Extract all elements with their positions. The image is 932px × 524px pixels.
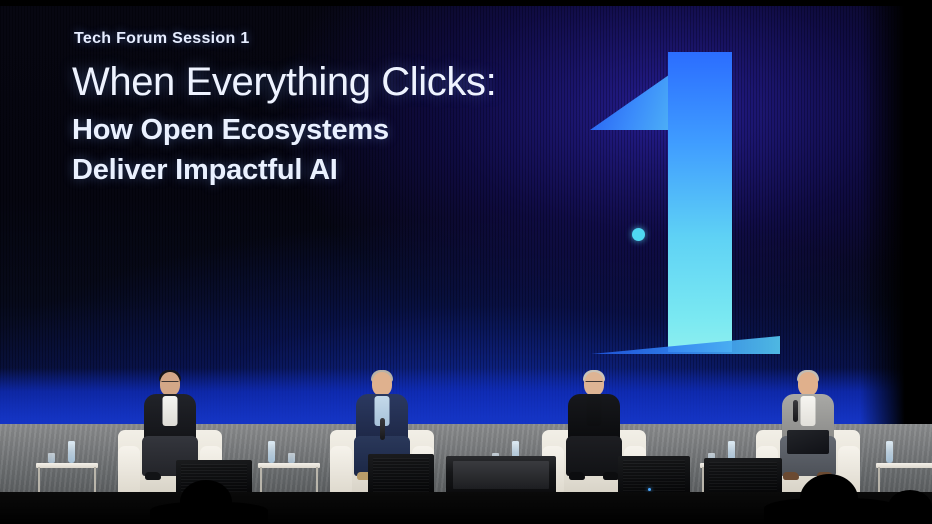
water-bottle-cap <box>512 441 519 444</box>
panelist-shoe <box>603 472 619 480</box>
equipment-rack-face <box>453 461 549 489</box>
water-bottle-cap <box>268 441 275 444</box>
slide-text-block: Tech Forum Session 1 When Everything Cli… <box>72 30 572 194</box>
slide-subline-2: Deliver Impactful AI <box>72 153 572 188</box>
session-numeral-one-graphic <box>590 52 770 352</box>
panelist-legs <box>566 436 622 476</box>
side-table-leg <box>38 467 40 492</box>
water-bottle-cap <box>886 441 893 444</box>
panelist-shoe <box>145 472 161 480</box>
conference-stage-photo: Tech Forum Session 1 When Everything Cli… <box>0 0 932 524</box>
panelist-head <box>798 372 818 396</box>
audience-silhouette <box>764 498 900 524</box>
equipment-rack <box>446 456 556 496</box>
side-table-leg <box>316 467 318 492</box>
water-bottle <box>68 442 75 463</box>
laptop-icon <box>787 430 829 454</box>
slide-eyebrow: Tech Forum Session 1 <box>74 30 572 48</box>
side-table-top <box>258 463 320 468</box>
monitor-grille <box>373 458 429 493</box>
water-bottle <box>268 442 275 463</box>
audience-silhouette <box>150 502 268 524</box>
side-table-top <box>876 463 932 468</box>
panelist-shoe <box>783 472 799 480</box>
panelist-shirt <box>801 396 816 426</box>
side-table-leg <box>878 467 880 492</box>
water-bottle <box>886 442 893 463</box>
letterbox-bar <box>0 0 932 6</box>
microphone-icon <box>793 400 798 422</box>
wall-right-falloff <box>860 0 932 430</box>
microphone-icon <box>380 418 385 440</box>
side-table-leg <box>94 467 96 492</box>
slide-subline-1: How Open Ecosystems <box>72 113 572 148</box>
panelist-shirt <box>587 396 602 426</box>
monitor-led-indicator <box>648 488 651 491</box>
water-bottle-cap <box>728 441 735 444</box>
audience-silhouette <box>888 490 932 524</box>
panelist-head <box>372 372 392 396</box>
glasses-icon <box>162 381 179 386</box>
drinking-glass <box>48 453 55 463</box>
numeral-one-stem <box>668 52 732 352</box>
panelist-shoe <box>569 472 585 480</box>
slide-headline: When Everything Clicks: <box>72 62 572 104</box>
panelist-shirt <box>163 396 178 426</box>
side-table-leg <box>260 467 262 492</box>
side-table-top <box>36 463 98 468</box>
monitor-grille <box>623 460 685 493</box>
accent-dot-icon <box>632 228 645 241</box>
water-bottle-cap <box>68 441 75 444</box>
numeral-one-flag <box>590 70 676 130</box>
glasses-icon <box>586 381 603 386</box>
drinking-glass <box>288 453 295 463</box>
monitor-grille <box>709 462 777 493</box>
